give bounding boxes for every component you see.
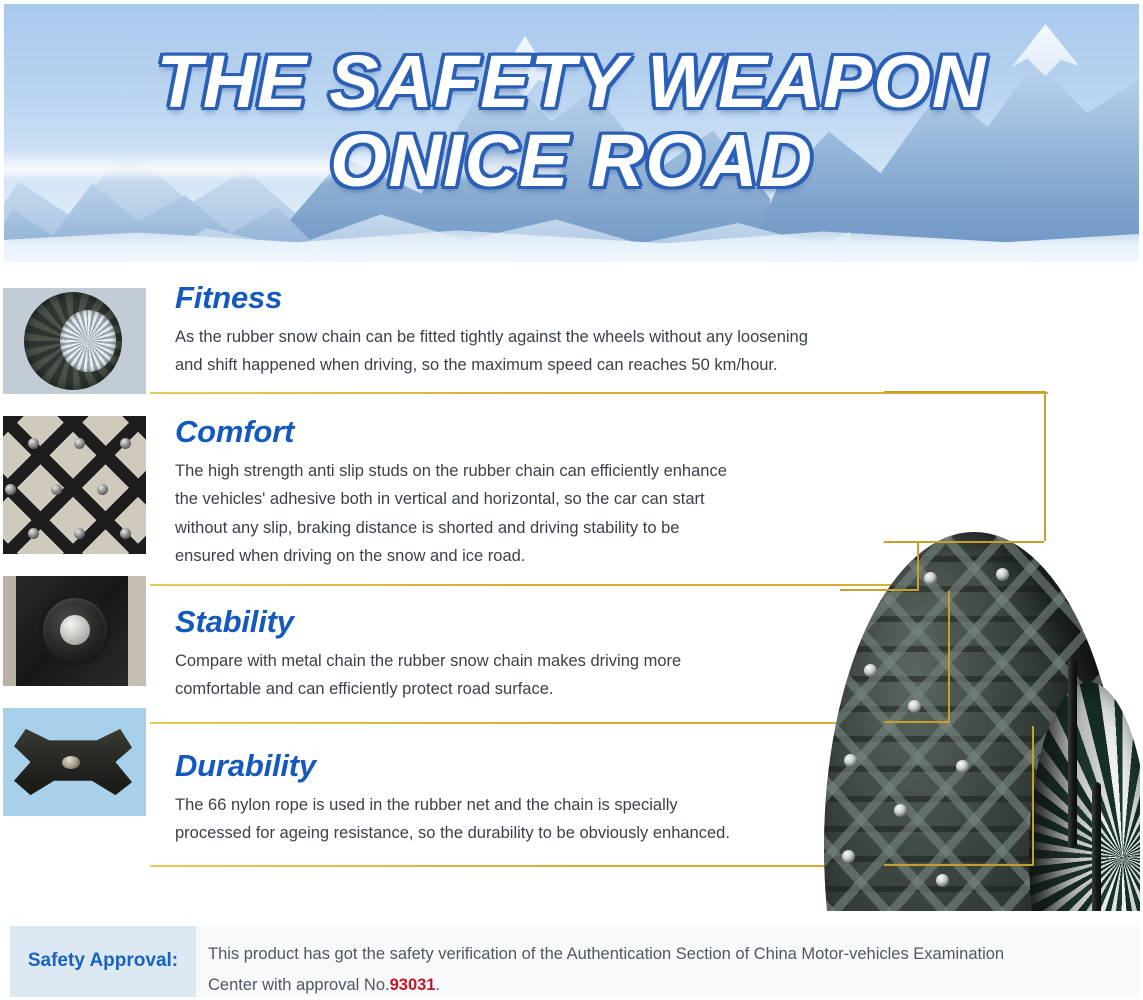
net-stud-icon — [5, 484, 16, 495]
safety-approval-text: This product has got the safety verifica… — [208, 939, 1123, 1000]
tire-stud-icon — [956, 760, 969, 773]
hero-banner: THE SAFETY WEAPON ONICE ROAD — [0, 0, 1143, 266]
feature-text-durability: Durability The 66 nylon rope is used in … — [175, 748, 730, 848]
safety-approval-text-panel: This product has got the safety verifica… — [196, 926, 1143, 1000]
stud-metal-core — [60, 615, 90, 645]
feature-title-comfort: Comfort — [175, 414, 727, 450]
approval-number: 93031 — [390, 976, 436, 994]
feature-body-line: As the rubber snow chain can be fitted t… — [175, 323, 808, 351]
feature-title-fitness: Fitness — [175, 280, 808, 316]
feature-text-fitness: Fitness As the rubber snow chain can be … — [175, 280, 808, 380]
net-stud-icon — [120, 438, 131, 449]
feature-text-stability: Stability Compare with metal chain the r… — [175, 604, 681, 704]
connector-line-comfort — [917, 541, 919, 589]
safety-approval-footer: Safety Approval: This product has got th… — [0, 911, 1143, 1000]
wheel-rim-shadow — [1029, 682, 1143, 911]
thumbnail-comfort — [0, 416, 146, 554]
feature-body-durability: The 66 nylon rope is used in the rubber … — [175, 791, 730, 848]
tire-stud-icon — [924, 572, 937, 585]
connector-line-comfort — [840, 589, 919, 591]
net-stud-icon — [97, 484, 108, 495]
feature-text-comfort: Comfort The high strength anti slip stud… — [175, 414, 727, 571]
feature-title-durability: Durability — [175, 748, 730, 784]
connector-line-fitness — [884, 391, 1044, 393]
feature-body-line: without any slip, braking distance is sh… — [175, 514, 727, 542]
connector-line-stability — [884, 721, 950, 723]
tire-stud-icon — [864, 664, 877, 677]
thumbnail-durability — [0, 708, 146, 816]
safety-approval-label: Safety Approval: — [10, 950, 196, 972]
tire-stud-icon — [908, 700, 921, 713]
net-stud-icon — [51, 484, 62, 495]
connector-line-durability — [884, 864, 1034, 866]
thumbnail-fitness — [0, 288, 146, 394]
feature-body-fitness: As the rubber snow chain can be fitted t… — [175, 323, 808, 380]
feature-body-line: and shift happened when driving, so the … — [175, 351, 808, 379]
x-piece-center-hub — [62, 756, 80, 769]
wheel-rim-spokes — [1029, 682, 1143, 911]
infographic-page: THE SAFETY WEAPON ONICE ROAD — [0, 0, 1143, 1000]
feature-body-comfort: The high strength anti slip studs on the… — [175, 457, 727, 571]
chain-strap — [1092, 782, 1101, 911]
approval-text-suffix: . — [435, 976, 440, 994]
feature-body-line: comfortable and can efficiently protect … — [175, 675, 681, 703]
net-stud-icon — [120, 528, 131, 539]
net-stud-icon — [28, 438, 39, 449]
stud-background-left — [0, 576, 16, 686]
features-section: Fitness As the rubber snow chain can be … — [0, 266, 1143, 911]
connector-line-stability — [948, 591, 950, 721]
safety-approval-label-panel: Safety Approval: — [10, 926, 196, 1000]
tire-stud-icon — [936, 874, 949, 887]
tire-stud-icon — [842, 850, 855, 863]
connector-line-comfort — [884, 541, 1044, 543]
feature-body-line: ensured when driving on the snow and ice… — [175, 542, 727, 570]
chained-tire-image — [24, 292, 122, 390]
hero-title-line-1: THE SAFETY WEAPON — [0, 44, 1143, 119]
tire-stud-icon — [996, 568, 1009, 581]
approval-text-line-1: This product has got the safety verifica… — [208, 945, 1004, 963]
thumbnail-stability — [0, 576, 146, 686]
feature-body-line: processed for ageing resistance, so the … — [175, 819, 730, 847]
hero-title: THE SAFETY WEAPON ONICE ROAD — [0, 44, 1143, 199]
feature-body-stability: Compare with metal chain the rubber snow… — [175, 647, 681, 704]
net-stud-icon — [28, 528, 39, 539]
feature-body-line: The 66 nylon rope is used in the rubber … — [175, 791, 730, 819]
net-stud-icon — [74, 528, 85, 539]
hero-title-line-2: ONICE ROAD — [0, 123, 1143, 198]
feature-body-line: the vehicles' adhesive both in vertical … — [175, 485, 727, 513]
approval-text-line-2-prefix: Center with approval No. — [208, 976, 390, 994]
tire-stud-icon — [844, 754, 857, 767]
net-stud-icon — [74, 438, 85, 449]
tire-stud-icon — [894, 804, 907, 817]
feature-title-stability: Stability — [175, 604, 681, 640]
feature-body-line: Compare with metal chain the rubber snow… — [175, 647, 681, 675]
divider-stability — [150, 722, 950, 724]
connector-line-fitness — [1044, 391, 1046, 541]
feature-body-line: The high strength anti slip studs on the… — [175, 457, 727, 485]
divider-comfort — [150, 584, 918, 586]
connector-line-durability — [1032, 726, 1034, 866]
stud-background-right — [128, 576, 146, 686]
chain-strap — [1068, 658, 1077, 848]
